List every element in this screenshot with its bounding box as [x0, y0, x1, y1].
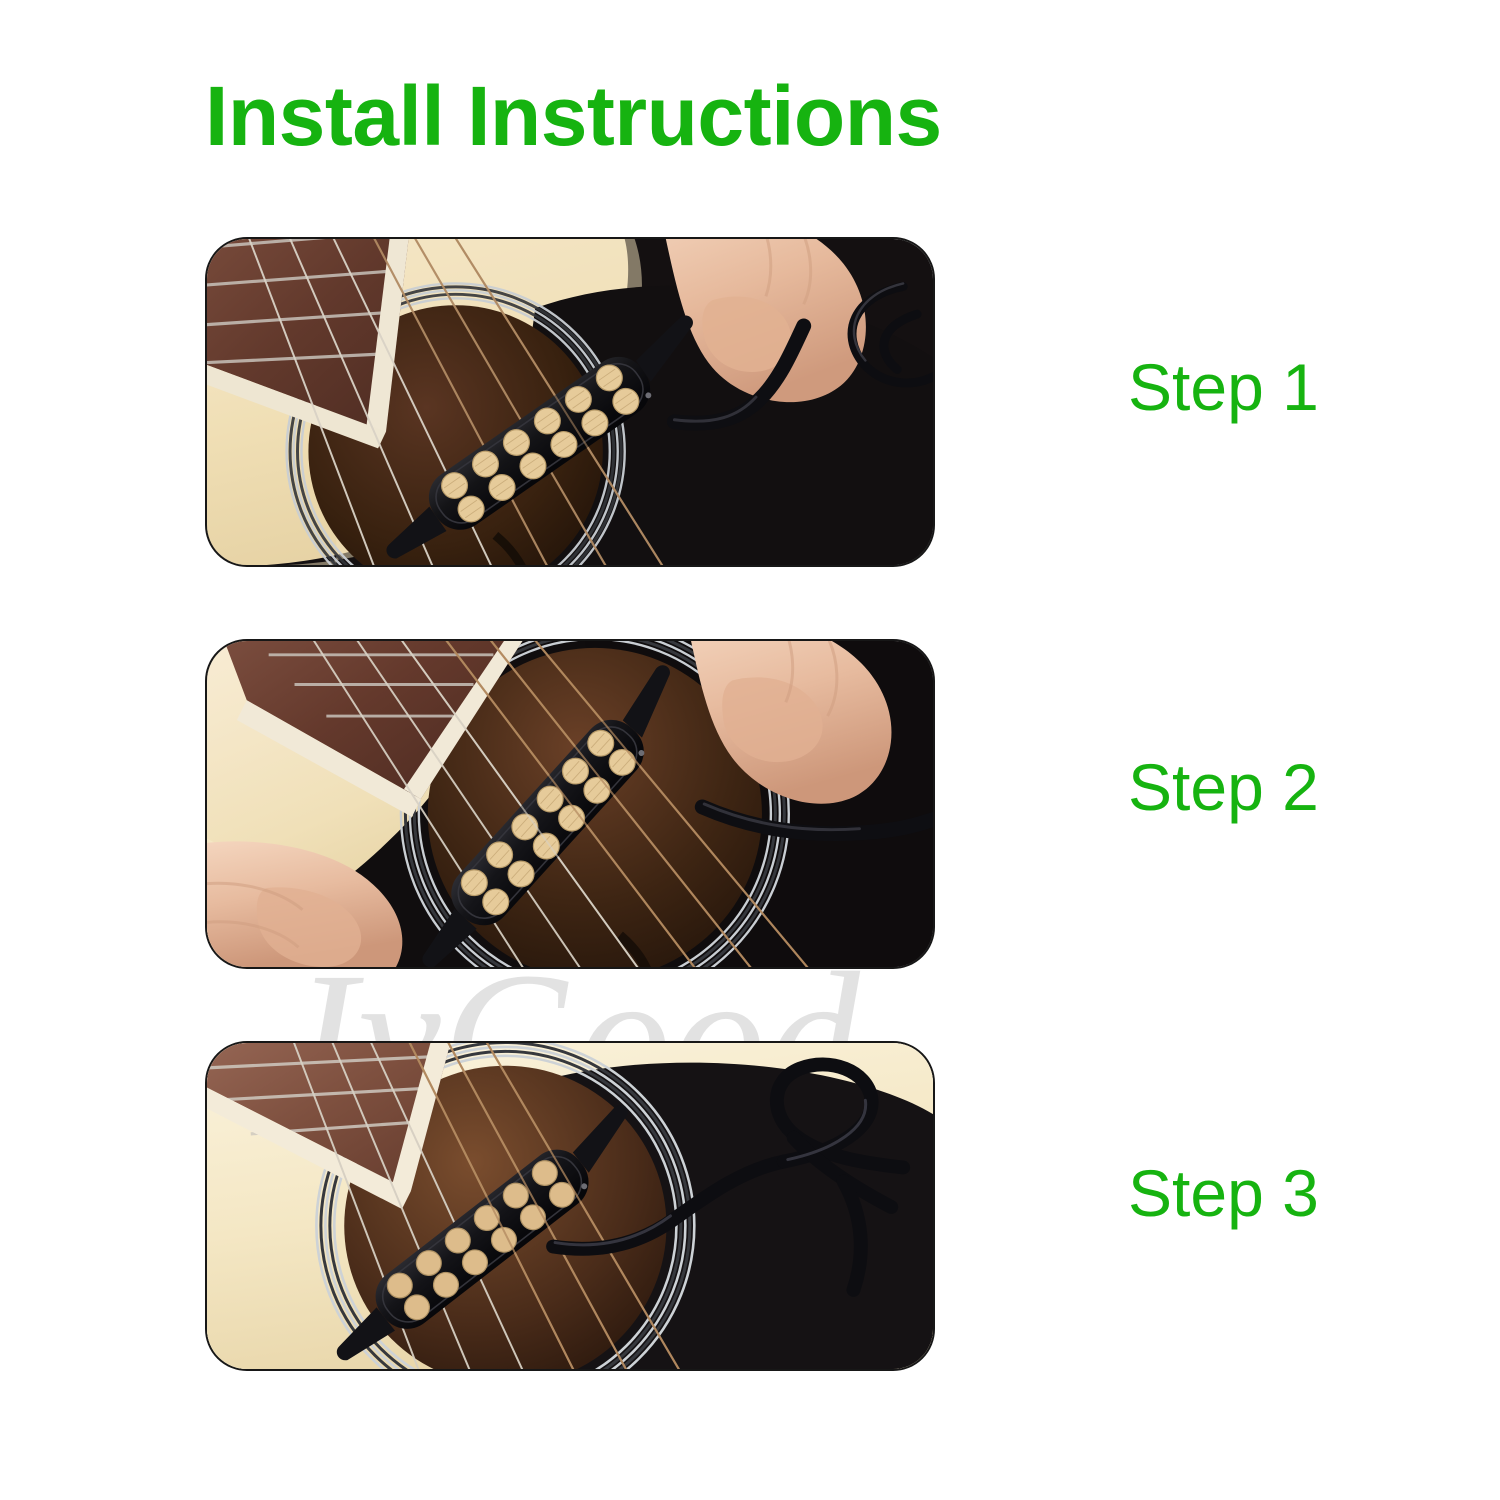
- step-3-label: Step 3: [1128, 1155, 1319, 1231]
- step-2-illustration: [207, 641, 933, 967]
- step-2-photo: [205, 639, 935, 969]
- step-1-photo: [205, 237, 935, 567]
- step-3-illustration: [207, 1043, 933, 1369]
- step-3-photo: [205, 1041, 935, 1371]
- page-title: Install Instructions: [205, 68, 942, 165]
- step-1-label: Step 1: [1128, 349, 1319, 425]
- step-2-label: Step 2: [1128, 749, 1319, 825]
- step-1-illustration: [207, 239, 933, 565]
- instruction-page: IvGood Install Instructions: [0, 0, 1500, 1500]
